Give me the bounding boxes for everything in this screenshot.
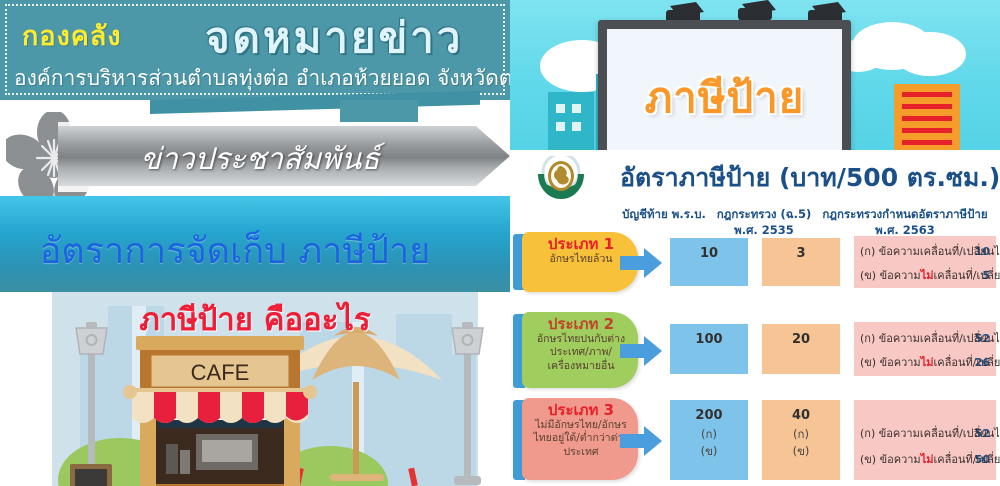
detail-negation: ไม่: [921, 453, 934, 466]
detail-line-b: 5 (ข) ข้อความไม่เคลื่อนที่/เปลี่ยนไม่ได้: [860, 268, 990, 284]
detail-line-a: 52 (ก) ข้อความเคลื่อนที่/เปลี่ยนได้: [860, 426, 990, 442]
column-header-1: บัญชีท้าย พ.ร.บ.: [618, 207, 710, 223]
table-row: ประเภท 2 อักษรไทยปนกับต่างประเทศ/ภาพ/เคร…: [510, 308, 1000, 394]
cell-sub-b: (ข): [762, 443, 840, 460]
detail-line-b: 50 (ข) ข้อความไม่เคลื่อนที่/เปลี่ยนไม่ได…: [860, 452, 990, 468]
detail-negation: ไม่: [921, 356, 934, 369]
category-desc: ไม่มีอักษรไทย/อักษรไทยอยู่ใต้/ต่ำกว่าต่า…: [530, 419, 632, 458]
cell-act-schedule: 100: [670, 324, 748, 374]
detail-negation: ไม่: [921, 269, 934, 282]
detail-line-b: 26 (ข) ข้อความไม่เคลื่อนที่/เปลี่ยนไม่ได…: [860, 355, 990, 371]
cell-ministerial-2563: 10 (ก) ข้อความเคลื่อนที่/เปลี่ยนได้ 5 (ข…: [854, 236, 996, 288]
header-accent-tab: [340, 100, 418, 122]
cell-sub-a: (ก): [762, 426, 840, 443]
detail-line-a: 52 (ก) ข้อความเคลื่อนที่/เปลี่ยนได้: [860, 331, 990, 347]
cell-ministerial-2535: 40 (ก) (ข): [762, 400, 840, 480]
cell-act-schedule: 10: [670, 238, 748, 286]
right-infographic-panel: ภาษีป้าย อัตราภาษีป้าย (บาท/500 ตร.ซม.) …: [510, 0, 1000, 486]
column-header-2-line1: กฎกระทรวง (ฉ.5): [717, 207, 812, 221]
tax-rate-table: อัตราภาษีป้าย (บาท/500 ตร.ซม.) บัญชีท้าย…: [510, 150, 1000, 486]
arrow-right-icon: [620, 336, 662, 366]
ribbon-label: ข่าวประชาสัมพันธ์: [95, 136, 425, 183]
column-header-1-line1: บัญชีท้าย พ.ร.บ.: [622, 207, 706, 221]
detail-label-post: เคลื่อนที่/เปลี่ยนไม่ได้: [934, 453, 1000, 466]
detail-line-a: 10 (ก) ข้อความเคลื่อนที่/เปลี่ยนได้: [860, 244, 990, 260]
detail-label: (ก) ข้อความเคลื่อนที่/เปลี่ยนได้: [860, 427, 1000, 440]
table-row: ประเภท 3 ไม่มีอักษรไทย/อักษรไทยอยู่ใต้/ต…: [510, 394, 1000, 486]
cell-value: 100: [695, 332, 722, 347]
billboard-title: ภาษีป้าย: [607, 65, 842, 131]
table-title: อัตราภาษีป้าย (บาท/500 ตร.ซม.): [620, 158, 1000, 198]
cell-value: 10: [700, 246, 718, 261]
cell-value: 3: [796, 246, 805, 261]
detail-label-pre: (ข) ข้อความ: [860, 356, 921, 369]
category-desc: อักษรไทยล้วน: [530, 253, 632, 266]
cell-value: 40: [792, 408, 810, 423]
category-desc: อักษรไทยปนกับต่างประเทศ/ภาพ/เครื่องหมายอ…: [530, 333, 632, 372]
category-name: ประเภท 2: [530, 316, 632, 333]
cell-ministerial-2563: 52 (ก) ข้อความเคลื่อนที่/เปลี่ยนได้ 50 (…: [854, 400, 996, 480]
detail-label-pre: (ข) ข้อความ: [860, 453, 921, 466]
cell-ministerial-2535: 20: [762, 324, 840, 374]
arrow-right-icon: [620, 248, 662, 278]
table-row: ประเภท 1 อักษรไทยล้วน 10 3 10 (ก) ข้อควา…: [510, 228, 1000, 308]
scene-title: ภาษีป้าย คืออะไร: [0, 294, 510, 344]
organization-subtitle: องค์การบริหารส่วนตำบลทุ่งต่อ อำเภอห้วยยอ…: [14, 62, 510, 95]
category-name: ประเภท 3: [530, 402, 632, 419]
thai-government-garuda-emblem-icon: [535, 156, 587, 204]
cell-act-schedule: 200 (ก) (ข): [670, 400, 748, 480]
detail-label: (ก) ข้อความเคลื่อนที่/เปลี่ยนได้: [860, 332, 1000, 345]
billboard: ภาษีป้าย: [598, 20, 851, 168]
detail-label-post: เคลื่อนที่/เปลี่ยนไม่ได้: [934, 269, 1000, 282]
poster-image: กองคลัง จดหมายข่าว องค์การบริหารส่วนตำบล…: [0, 0, 1000, 486]
detail-label-post: เคลื่อนที่/เปลี่ยนไม่ได้: [934, 356, 1000, 369]
cell-ministerial-2535: 3: [762, 238, 840, 286]
detail-label-pre: (ข) ข้อความ: [860, 269, 921, 282]
left-poster-panel: กองคลัง จดหมายข่าว องค์การบริหารส่วนตำบล…: [0, 0, 510, 486]
cell-sub-b: (ข): [670, 443, 748, 460]
column-header-3-line1: กฎกระทรวงกำหนดอัตราภาษีป้าย: [822, 207, 987, 221]
department-title: กองคลัง: [22, 14, 122, 57]
cell-ministerial-2563: 52 (ก) ข้อความเคลื่อนที่/เปลี่ยนได้ 26 (…: [854, 322, 996, 376]
cell-value: 200: [695, 408, 722, 423]
cell-sub-a: (ก): [670, 426, 748, 443]
arrow-right-icon: [620, 426, 662, 456]
topic-band-label: อัตราการจัดเก็บ ภาษีป้าย: [0, 222, 470, 279]
cell-value: 20: [792, 332, 810, 347]
cafe-sign-text: CAFE: [191, 360, 250, 385]
detail-label: (ก) ข้อความเคลื่อนที่/เปลี่ยนได้: [860, 245, 1000, 258]
category-name: ประเภท 1: [530, 236, 632, 253]
